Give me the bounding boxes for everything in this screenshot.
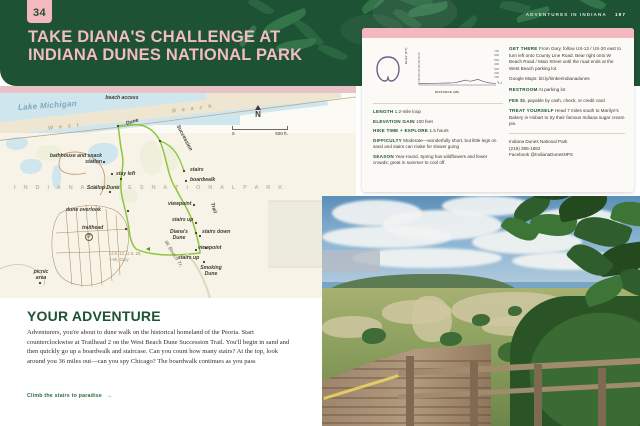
chart-x-tick: 1.2 [498,81,502,85]
railing-post [406,356,414,426]
info-card-accent-bar [362,28,634,38]
running-head: ADVENTURES IN INDIANA 197 [526,12,626,17]
adventure-heading: YOUR ADVENTURE [27,308,161,324]
adventure-body-text: Adventurers, you're about to dune walk o… [27,328,291,367]
leaf-icon [582,274,627,307]
railing-post [598,368,606,426]
stat-elevation-gain-value: 100 feet [416,119,433,124]
chart-y-axis-label: ELEV (FT) [404,47,408,64]
leaf-icon [407,1,448,17]
leaf-icon [359,0,388,14]
stat-elevation-gain: ELEVATION GAIN 100 feet [373,119,503,125]
trail-map[interactable]: Lake Michigan W e s t B e a c h I N D I … [0,93,356,298]
leaf-icon [397,0,433,12]
block-treat-yourself-label: TREAT YOURSELF [509,108,554,113]
block-fee-label: FEE [509,98,519,103]
map-label-viewpoint: viewpoint [168,201,192,207]
block-restroom: RESTROOM At parking lot [509,87,625,94]
stat-season-label: SEASON [373,154,394,159]
contact-park-name: Indiana Dunes National Park [509,139,625,146]
map-label-trailhead: trailhead [82,225,103,231]
trail-info-card: ELEV (FT) DISTANCE (MI) 700 600 500 400 … [362,28,634,192]
block-google-maps-value[interactable]: Google Maps: bit.ly/timberindianadunes [509,76,590,81]
elevation-profile-chart: ELEV (FT) DISTANCE (MI) 700 600 500 400 … [373,46,501,98]
block-google-maps[interactable]: Google Maps: bit.ly/timberindianadunes [509,76,625,83]
info-left-column: ELEV (FT) DISTANCE (MI) 700 600 500 400 … [373,46,503,170]
stat-difficulty: DIFFICULTY Moderate—wonderfully short, b… [373,138,503,151]
cloud-shape [322,226,452,248]
stat-difficulty-label: DIFFICULTY [373,138,402,143]
stat-hike-time-label: HIKE TIME + EXPLORE [373,128,428,133]
leaf-icon [318,41,349,63]
map-label-picnic-area: picnic area [28,269,54,281]
block-restroom-value: At parking lot [539,87,566,92]
parking-marker-label: P [87,234,90,240]
scale-max-label: 500 ft. [275,131,288,136]
running-head-page: 197 [615,12,626,17]
contact-facebook[interactable]: Facebook @IndianaDunesNPS [509,152,625,159]
map-label-stairs-down: stairs down [202,229,230,235]
leaf-icon [515,6,550,23]
map-label-stairs: stairs [190,167,204,173]
stat-hike-time-value: 1.5 hours [429,128,448,133]
stat-length: LENGTH 1.2-mile loop [373,109,503,115]
arrow-right-icon: → [107,393,113,399]
contact-phone[interactable]: (219) 395-1882 [509,146,625,153]
map-label-smoking-dune: Smoking Dune [196,265,226,277]
map-label-dune-overlook: dune overlook [66,207,101,213]
info-right-column: GET THERE From Gary, follow US-12 / US-2… [509,46,625,159]
leaf-icon [294,17,324,49]
map-label-stay-left: stay left [116,171,135,177]
photo-marina [322,250,380,272]
chart-x-axis-label: DISTANCE (MI) [435,90,460,94]
railing-post [534,364,542,426]
leaf-icon [237,25,259,48]
block-get-there: GET THERE From Gary, follow US-12 / US-2… [509,46,625,72]
page-number-badge: 34 [27,0,52,23]
leaf-icon [499,0,531,16]
block-fee: FEE $5, payable by cash, check, or credi… [509,98,625,105]
map-label-beach-access: beach access [105,95,139,101]
stat-length-value: 1.2-mile loop [395,109,421,114]
map-scale-bar: 0 500 ft. [232,126,288,136]
stat-length-label: LENGTH [373,109,393,114]
map-label-viewpoint-2: viewpoint [198,245,222,251]
adventure-continue-link[interactable]: Climb the stairs to paradise → [27,393,112,399]
map-label-stairs-up-2: stairs up [178,255,199,261]
block-restroom-label: RESTROOM [509,87,538,92]
block-fee-value: $5, payable by cash, check, or credit ca… [520,98,605,103]
block-get-there-label: GET THERE [509,46,538,51]
leaf-icon [576,0,607,13]
leaf-icon [248,0,275,18]
pink-divider-strip [0,86,356,93]
info-card-body: ELEV (FT) DISTANCE (MI) 700 600 500 400 … [362,38,634,192]
map-label-highway: U.S. 12, U.S. 20, I-90, Gary [110,251,144,263]
divider [373,103,503,104]
map-label-stairs-up: stairs up [172,217,193,223]
adventure-section: YOUR ADVENTURE Adventurers, you're about… [0,300,318,426]
chart-line-series [418,52,498,88]
map-label-dianas-dune: Diana's Dune [166,229,192,241]
stat-hike-time: HIKE TIME + EXPLORE 1.5 hours [373,128,503,134]
elevation-chart-plot: ELEV (FT) DISTANCE (MI) 700 600 500 400 … [405,50,499,94]
adventure-continue-label[interactable]: Climb the stairs to paradise [27,393,102,399]
stat-elevation-gain-label: ELEVATION GAIN [373,119,415,124]
trail-photograph [322,196,640,426]
page-number-text: 34 [33,7,46,19]
parking-marker-icon: P [85,233,93,241]
page-title: TAKE DIANA'S CHALLENGE AT INDIANA DUNES … [28,28,328,64]
stat-season: SEASON Year-round. Spring has wildflower… [373,154,503,167]
compass-rose: N [255,105,261,119]
leaf-icon [276,38,317,52]
compass-north-label: N [255,110,261,119]
map-label-boardwalk: boardwalk [190,177,215,183]
scale-min-label: 0 [232,131,235,136]
spread-page: ADVENTURES IN INDIANA 197 TAKE DIANA'S C… [0,0,640,426]
railing-post [470,360,478,426]
running-head-text: ADVENTURES IN INDIANA [526,12,607,17]
divider [509,133,625,134]
loop-trail-icon [375,54,401,84]
map-label-bathhouse: bathhouse and snack station [44,153,102,165]
block-treat-yourself: TREAT YOURSELF Head 7 miles south to Mar… [509,108,625,128]
leaf-icon [262,8,309,35]
map-label-scallop-dune: Scallop Dune [86,185,120,191]
scale-bar-line [232,126,288,130]
photo-railing [398,348,640,426]
